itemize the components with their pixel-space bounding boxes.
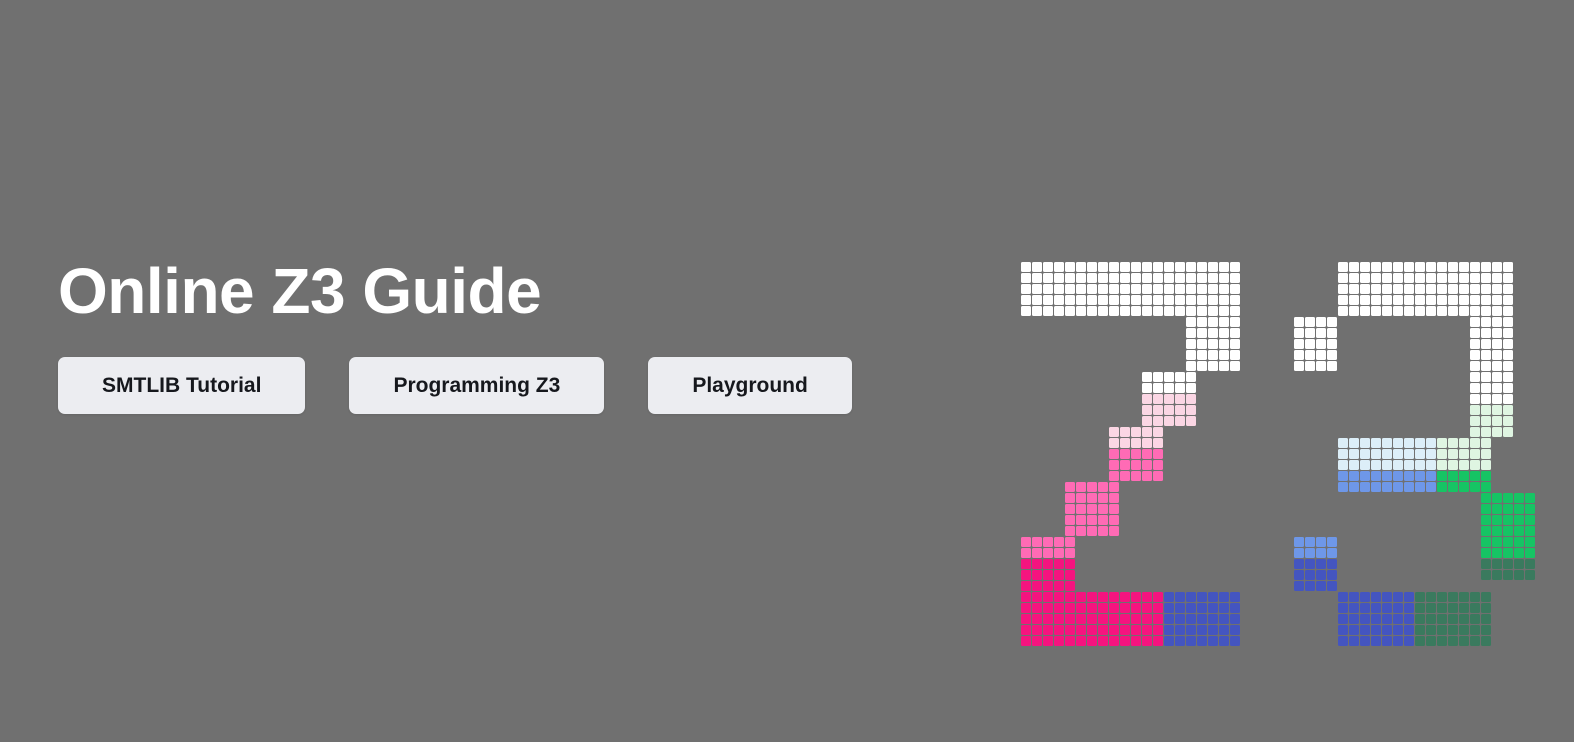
logo-cell bbox=[1109, 482, 1119, 492]
logo-cell bbox=[1404, 284, 1414, 294]
logo-cell bbox=[1426, 603, 1436, 613]
logo-cell bbox=[1481, 339, 1491, 349]
logo-cell bbox=[1153, 438, 1163, 448]
logo-cell bbox=[1230, 603, 1240, 613]
logo-cell bbox=[1327, 328, 1337, 338]
logo-cell bbox=[1087, 603, 1097, 613]
logo-cell bbox=[1481, 537, 1491, 547]
logo-cell bbox=[1481, 449, 1491, 459]
logo-cell bbox=[1459, 449, 1469, 459]
logo-cell bbox=[1503, 570, 1513, 580]
logo-cell bbox=[1109, 515, 1119, 525]
logo-cell bbox=[1470, 482, 1480, 492]
logo-cell bbox=[1503, 383, 1513, 393]
logo-cell bbox=[1043, 570, 1053, 580]
logo-cell bbox=[1153, 625, 1163, 635]
logo-cell bbox=[1415, 603, 1425, 613]
logo-cell bbox=[1371, 636, 1381, 646]
logo-cell bbox=[1230, 339, 1240, 349]
logo-cell bbox=[1481, 460, 1491, 470]
logo-cell bbox=[1175, 603, 1185, 613]
logo-cell bbox=[1481, 328, 1491, 338]
logo-cell bbox=[1109, 295, 1119, 305]
logo-cell bbox=[1470, 383, 1480, 393]
logo-cell bbox=[1481, 548, 1491, 558]
logo-cell bbox=[1316, 317, 1326, 327]
logo-cell bbox=[1131, 636, 1141, 646]
logo-cell bbox=[1142, 394, 1152, 404]
logo-cell bbox=[1481, 570, 1491, 580]
logo-cell bbox=[1142, 262, 1152, 272]
logo-cell bbox=[1120, 603, 1130, 613]
logo-cell bbox=[1459, 471, 1469, 481]
logo-cell bbox=[1470, 427, 1480, 437]
logo-cell bbox=[1142, 636, 1152, 646]
logo-cell bbox=[1021, 603, 1031, 613]
logo-cell bbox=[1197, 350, 1207, 360]
logo-cell bbox=[1043, 306, 1053, 316]
logo-cell bbox=[1492, 559, 1502, 569]
logo-cell bbox=[1120, 427, 1130, 437]
logo-cell bbox=[1153, 592, 1163, 602]
logo-cell bbox=[1459, 614, 1469, 624]
logo-cell bbox=[1175, 372, 1185, 382]
logo-cell bbox=[1219, 350, 1229, 360]
logo-cell bbox=[1393, 273, 1403, 283]
logo-cell bbox=[1098, 636, 1108, 646]
logo-cell bbox=[1087, 636, 1097, 646]
logo-cell bbox=[1382, 273, 1392, 283]
logo-cell bbox=[1087, 295, 1097, 305]
logo-cell bbox=[1470, 339, 1480, 349]
logo-cell bbox=[1065, 614, 1075, 624]
logo-cell bbox=[1142, 625, 1152, 635]
logo-cell bbox=[1065, 603, 1075, 613]
logo-cell bbox=[1305, 537, 1315, 547]
logo-cell bbox=[1043, 559, 1053, 569]
logo-cell bbox=[1142, 416, 1152, 426]
logo-cell bbox=[1098, 592, 1108, 602]
logo-cell bbox=[1043, 273, 1053, 283]
logo-cell bbox=[1393, 482, 1403, 492]
logo-cell bbox=[1448, 284, 1458, 294]
logo-cell bbox=[1186, 636, 1196, 646]
logo-cell bbox=[1338, 471, 1348, 481]
logo-cell bbox=[1404, 614, 1414, 624]
logo-cell bbox=[1021, 559, 1031, 569]
logo-cell bbox=[1230, 273, 1240, 283]
logo-cell bbox=[1087, 526, 1097, 536]
logo-cell bbox=[1327, 350, 1337, 360]
logo-cell bbox=[1142, 273, 1152, 283]
logo-cell bbox=[1338, 636, 1348, 646]
logo-cell bbox=[1525, 537, 1535, 547]
logo-cell bbox=[1197, 328, 1207, 338]
logo-cell bbox=[1219, 625, 1229, 635]
logo-cell bbox=[1437, 636, 1447, 646]
logo-cell bbox=[1481, 317, 1491, 327]
logo-cell bbox=[1142, 603, 1152, 613]
logo-cell bbox=[1065, 515, 1075, 525]
logo-cell bbox=[1349, 636, 1359, 646]
logo-cell bbox=[1032, 295, 1042, 305]
logo-cell bbox=[1087, 273, 1097, 283]
logo-cell bbox=[1032, 537, 1042, 547]
logo-cell bbox=[1470, 614, 1480, 624]
logo-cell bbox=[1208, 592, 1218, 602]
logo-cell bbox=[1164, 416, 1174, 426]
logo-cell bbox=[1175, 295, 1185, 305]
logo-cell bbox=[1338, 614, 1348, 624]
logo-cell bbox=[1393, 262, 1403, 272]
logo-cell bbox=[1349, 284, 1359, 294]
logo-cell bbox=[1186, 372, 1196, 382]
logo-cell bbox=[1470, 372, 1480, 382]
logo-cell bbox=[1109, 262, 1119, 272]
logo-cell bbox=[1098, 625, 1108, 635]
logo-cell bbox=[1109, 306, 1119, 316]
logo-cell bbox=[1186, 592, 1196, 602]
logo-cell bbox=[1153, 427, 1163, 437]
logo-cell bbox=[1316, 559, 1326, 569]
logo-cell bbox=[1131, 614, 1141, 624]
logo-cell bbox=[1492, 537, 1502, 547]
logo-cell bbox=[1448, 636, 1458, 646]
logo-cell bbox=[1076, 515, 1086, 525]
playground-button[interactable]: Playground bbox=[648, 357, 852, 414]
logo-cell bbox=[1153, 306, 1163, 316]
logo-cell bbox=[1349, 592, 1359, 602]
logo-cell bbox=[1371, 295, 1381, 305]
logo-cell bbox=[1219, 636, 1229, 646]
logo-cell bbox=[1382, 614, 1392, 624]
logo-cell bbox=[1109, 603, 1119, 613]
logo-cell bbox=[1415, 449, 1425, 459]
logo-cell bbox=[1305, 350, 1315, 360]
logo-cell bbox=[1197, 361, 1207, 371]
logo-cell bbox=[1503, 526, 1513, 536]
logo-cell bbox=[1492, 416, 1502, 426]
logo-cell bbox=[1305, 548, 1315, 558]
logo-cell bbox=[1076, 306, 1086, 316]
logo-cell bbox=[1382, 449, 1392, 459]
logo-cell bbox=[1294, 537, 1304, 547]
logo-cell bbox=[1109, 427, 1119, 437]
logo-cell bbox=[1043, 636, 1053, 646]
logo-cell bbox=[1294, 570, 1304, 580]
logo-cell bbox=[1415, 273, 1425, 283]
logo-cell bbox=[1186, 273, 1196, 283]
logo-cell bbox=[1360, 471, 1370, 481]
logo-cell bbox=[1021, 284, 1031, 294]
logo-cell bbox=[1481, 306, 1491, 316]
logo-cell bbox=[1492, 328, 1502, 338]
logo-cell bbox=[1076, 273, 1086, 283]
logo-cell bbox=[1481, 504, 1491, 514]
logo-cell bbox=[1448, 438, 1458, 448]
logo-cell bbox=[1349, 471, 1359, 481]
logo-cell bbox=[1098, 306, 1108, 316]
logo-cell bbox=[1087, 625, 1097, 635]
logo-cell bbox=[1120, 636, 1130, 646]
logo-cell bbox=[1087, 482, 1097, 492]
logo-cell bbox=[1448, 460, 1458, 470]
logo-cell bbox=[1197, 625, 1207, 635]
logo-cell bbox=[1065, 592, 1075, 602]
logo-cell bbox=[1514, 548, 1524, 558]
logo-cell bbox=[1382, 636, 1392, 646]
logo-cell bbox=[1338, 273, 1348, 283]
logo-cell bbox=[1470, 592, 1480, 602]
logo-cell bbox=[1481, 526, 1491, 536]
logo-cell bbox=[1142, 383, 1152, 393]
logo-cell bbox=[1327, 559, 1337, 569]
logo-cell bbox=[1481, 559, 1491, 569]
logo-cell bbox=[1459, 603, 1469, 613]
logo-cell bbox=[1360, 614, 1370, 624]
logo-cell bbox=[1164, 295, 1174, 305]
logo-cell bbox=[1054, 592, 1064, 602]
logo-cell bbox=[1065, 625, 1075, 635]
logo-cell bbox=[1087, 592, 1097, 602]
logo-cell bbox=[1294, 339, 1304, 349]
logo-cell bbox=[1186, 306, 1196, 316]
logo-cell bbox=[1305, 570, 1315, 580]
logo-cell bbox=[1426, 592, 1436, 602]
logo-cell bbox=[1208, 339, 1218, 349]
logo-cell bbox=[1131, 603, 1141, 613]
logo-cell bbox=[1032, 559, 1042, 569]
logo-cell bbox=[1404, 295, 1414, 305]
logo-cell bbox=[1470, 273, 1480, 283]
logo-cell bbox=[1153, 372, 1163, 382]
logo-cell bbox=[1054, 625, 1064, 635]
logo-cell bbox=[1470, 350, 1480, 360]
logo-cell bbox=[1470, 449, 1480, 459]
logo-cell bbox=[1437, 471, 1447, 481]
logo-cell bbox=[1087, 284, 1097, 294]
logo-cell bbox=[1382, 284, 1392, 294]
logo-cell bbox=[1186, 350, 1196, 360]
logo-cell bbox=[1371, 438, 1381, 448]
logo-cell bbox=[1054, 537, 1064, 547]
logo-cell bbox=[1492, 570, 1502, 580]
logo-cell bbox=[1492, 405, 1502, 415]
logo-cell bbox=[1349, 273, 1359, 283]
logo-cell bbox=[1360, 449, 1370, 459]
logo-cell bbox=[1294, 361, 1304, 371]
logo-cell bbox=[1120, 438, 1130, 448]
logo-cell bbox=[1382, 262, 1392, 272]
logo-cell bbox=[1197, 636, 1207, 646]
logo-cell bbox=[1459, 295, 1469, 305]
logo-cell bbox=[1481, 416, 1491, 426]
logo-cell bbox=[1327, 570, 1337, 580]
logo-cell bbox=[1349, 306, 1359, 316]
logo-cell bbox=[1197, 592, 1207, 602]
logo-cell bbox=[1142, 449, 1152, 459]
logo-cell bbox=[1404, 471, 1414, 481]
logo-cell bbox=[1175, 306, 1185, 316]
logo-cell bbox=[1393, 471, 1403, 481]
logo-cell bbox=[1415, 262, 1425, 272]
logo-cell bbox=[1120, 262, 1130, 272]
logo-cell bbox=[1349, 262, 1359, 272]
logo-cell bbox=[1514, 515, 1524, 525]
logo-cell bbox=[1043, 548, 1053, 558]
logo-cell bbox=[1481, 438, 1491, 448]
logo-cell bbox=[1492, 383, 1502, 393]
logo-cell bbox=[1032, 581, 1042, 591]
logo-cell bbox=[1142, 471, 1152, 481]
logo-cell bbox=[1415, 460, 1425, 470]
logo-cell bbox=[1076, 603, 1086, 613]
logo-cell bbox=[1415, 482, 1425, 492]
logo-cell bbox=[1393, 306, 1403, 316]
logo-cell bbox=[1131, 625, 1141, 635]
logo-cell bbox=[1338, 449, 1348, 459]
logo-cell bbox=[1230, 592, 1240, 602]
logo-cell bbox=[1382, 306, 1392, 316]
logo-cell bbox=[1448, 625, 1458, 635]
logo-cell bbox=[1382, 295, 1392, 305]
logo-cell bbox=[1371, 262, 1381, 272]
logo-cell bbox=[1437, 284, 1447, 294]
logo-cell bbox=[1153, 295, 1163, 305]
logo-cell bbox=[1153, 273, 1163, 283]
logo-cell bbox=[1492, 350, 1502, 360]
logo-cell bbox=[1393, 295, 1403, 305]
logo-cell bbox=[1164, 625, 1174, 635]
logo-cell bbox=[1349, 295, 1359, 305]
logo-cell bbox=[1437, 603, 1447, 613]
logo-cell bbox=[1054, 614, 1064, 624]
logo-cell bbox=[1219, 592, 1229, 602]
logo-cell bbox=[1120, 295, 1130, 305]
logo-cell bbox=[1415, 306, 1425, 316]
logo-cell bbox=[1503, 405, 1513, 415]
logo-cell bbox=[1393, 614, 1403, 624]
logo-cell bbox=[1371, 603, 1381, 613]
logo-cell bbox=[1404, 306, 1414, 316]
logo-cell bbox=[1219, 328, 1229, 338]
logo-cell bbox=[1492, 306, 1502, 316]
logo-cell bbox=[1503, 295, 1513, 305]
logo-cell bbox=[1448, 306, 1458, 316]
logo-cell bbox=[1065, 636, 1075, 646]
logo-cell bbox=[1021, 636, 1031, 646]
logo-cell bbox=[1393, 438, 1403, 448]
logo-cell bbox=[1087, 614, 1097, 624]
logo-cell bbox=[1087, 306, 1097, 316]
logo-cell bbox=[1065, 262, 1075, 272]
logo-cell bbox=[1175, 394, 1185, 404]
logo-cell bbox=[1492, 273, 1502, 283]
logo-cell bbox=[1327, 317, 1337, 327]
logo-cell bbox=[1186, 394, 1196, 404]
logo-cell bbox=[1448, 471, 1458, 481]
logo-cell bbox=[1076, 526, 1086, 536]
logo-cell bbox=[1393, 592, 1403, 602]
logo-cell bbox=[1470, 284, 1480, 294]
logo-cell bbox=[1404, 625, 1414, 635]
logo-cell bbox=[1503, 548, 1513, 558]
logo-cell bbox=[1219, 339, 1229, 349]
logo-cell bbox=[1393, 284, 1403, 294]
logo-cell bbox=[1164, 306, 1174, 316]
logo-cell bbox=[1481, 394, 1491, 404]
logo-cell bbox=[1305, 361, 1315, 371]
logo-cell bbox=[1054, 636, 1064, 646]
logo-cell bbox=[1087, 515, 1097, 525]
logo-cell bbox=[1208, 262, 1218, 272]
logo-cell bbox=[1448, 614, 1458, 624]
logo-cell bbox=[1208, 317, 1218, 327]
logo-cell bbox=[1525, 559, 1535, 569]
logo-cell bbox=[1175, 592, 1185, 602]
smtlib-tutorial-button[interactable]: SMTLIB Tutorial bbox=[58, 357, 305, 414]
logo-cell bbox=[1470, 405, 1480, 415]
logo-cell bbox=[1131, 262, 1141, 272]
logo-cell bbox=[1426, 273, 1436, 283]
logo-cell bbox=[1109, 438, 1119, 448]
programming-z3-button[interactable]: Programming Z3 bbox=[349, 357, 604, 414]
logo-cell bbox=[1360, 306, 1370, 316]
logo-cell bbox=[1208, 350, 1218, 360]
logo-cell bbox=[1043, 284, 1053, 294]
logo-cell bbox=[1065, 537, 1075, 547]
logo-cell bbox=[1525, 504, 1535, 514]
logo-cell bbox=[1109, 625, 1119, 635]
logo-cell bbox=[1230, 614, 1240, 624]
logo-cell bbox=[1426, 306, 1436, 316]
logo-cell bbox=[1470, 416, 1480, 426]
logo-cell bbox=[1109, 471, 1119, 481]
logo-cell bbox=[1186, 603, 1196, 613]
logo-cell bbox=[1065, 284, 1075, 294]
logo-cell bbox=[1525, 548, 1535, 558]
logo-cell bbox=[1065, 548, 1075, 558]
logo-cell bbox=[1415, 592, 1425, 602]
logo-cell bbox=[1382, 482, 1392, 492]
logo-cell bbox=[1470, 306, 1480, 316]
logo-cell bbox=[1481, 383, 1491, 393]
logo-cell bbox=[1021, 570, 1031, 580]
logo-cell bbox=[1065, 570, 1075, 580]
logo-cell bbox=[1208, 614, 1218, 624]
logo-cell bbox=[1032, 625, 1042, 635]
logo-cell bbox=[1230, 361, 1240, 371]
logo-cell bbox=[1175, 636, 1185, 646]
logo-cell bbox=[1065, 581, 1075, 591]
logo-cell bbox=[1404, 636, 1414, 646]
logo-cell bbox=[1360, 460, 1370, 470]
logo-cell bbox=[1208, 625, 1218, 635]
logo-cell bbox=[1076, 504, 1086, 514]
logo-cell bbox=[1415, 625, 1425, 635]
logo-cell bbox=[1415, 636, 1425, 646]
logo-cell bbox=[1448, 603, 1458, 613]
logo-cell bbox=[1349, 438, 1359, 448]
logo-cell bbox=[1294, 548, 1304, 558]
logo-cell bbox=[1032, 306, 1042, 316]
logo-cell bbox=[1065, 493, 1075, 503]
logo-cell bbox=[1120, 625, 1130, 635]
logo-cell bbox=[1142, 460, 1152, 470]
logo-cell bbox=[1197, 284, 1207, 294]
logo-cell bbox=[1164, 273, 1174, 283]
logo-cell bbox=[1120, 449, 1130, 459]
